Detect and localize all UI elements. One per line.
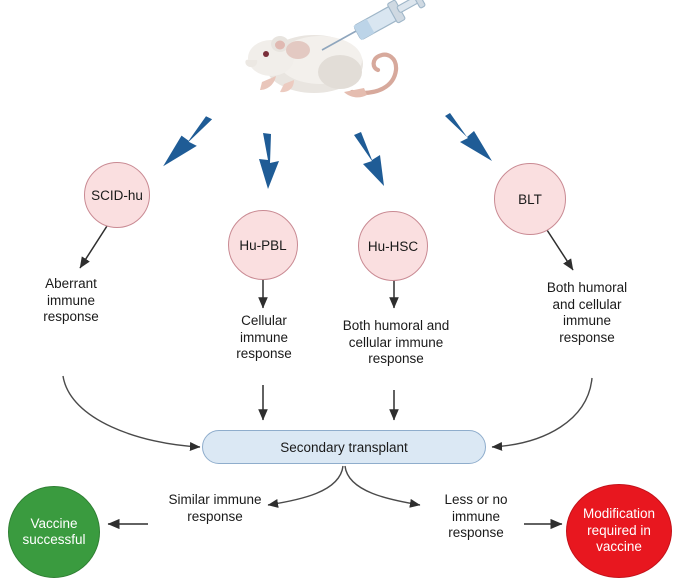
result-circle-vaccine-successful[interactable]: Vaccine successful [8,486,100,578]
result-label-vaccine-successful: Vaccine successful [22,516,85,549]
model-label-hu-pbl: Hu-PBL [239,238,286,253]
branch-text-similar: Similar immune response [152,492,278,525]
secondary-transplant-label: Secondary transplant [280,440,408,455]
arrow-scid-hu-to-outcome [80,226,107,268]
blue-arrow-scid-hu [163,116,212,166]
blue-arrow-blt [445,113,492,161]
diagram-canvas: SCID-hu Hu-PBL Hu-HSC BLT Aberrant immun… [0,0,680,578]
branch-text-less-or-no: Less or no immune response [424,492,528,542]
result-label-modification-required: Modification required in vaccine [583,506,655,555]
outcome-text-hu-hsc: Both humoral and cellular immune respons… [330,318,462,368]
arrow-transplant-to-less-or-no [345,466,420,505]
model-circle-hu-pbl[interactable]: Hu-PBL [228,210,298,280]
outcome-text-blt: Both humoral and cellular immune respons… [528,280,646,347]
model-circle-scid-hu[interactable]: SCID-hu [84,162,150,228]
arrow-blt-to-outcome [547,230,573,270]
model-label-scid-hu: SCID-hu [91,188,143,203]
secondary-transplant-box[interactable]: Secondary transplant [202,430,486,464]
arrow-blt-outcome-to-transplant [492,378,592,447]
outcome-text-scid-hu: Aberrant immune response [16,276,126,326]
model-circle-hu-hsc[interactable]: Hu-HSC [358,211,428,281]
arrow-transplant-to-similar [268,466,343,505]
model-label-hu-hsc: Hu-HSC [368,239,418,254]
blue-arrow-hu-pbl [259,133,279,189]
result-circle-modification-required[interactable]: Modification required in vaccine [566,484,672,578]
blue-arrow-hu-hsc [354,132,384,186]
model-label-blt: BLT [518,192,542,207]
model-circle-blt[interactable]: BLT [494,163,566,235]
arrow-aberrant-to-transplant [63,376,200,447]
outcome-text-hu-pbl: Cellular immune response [208,313,320,363]
